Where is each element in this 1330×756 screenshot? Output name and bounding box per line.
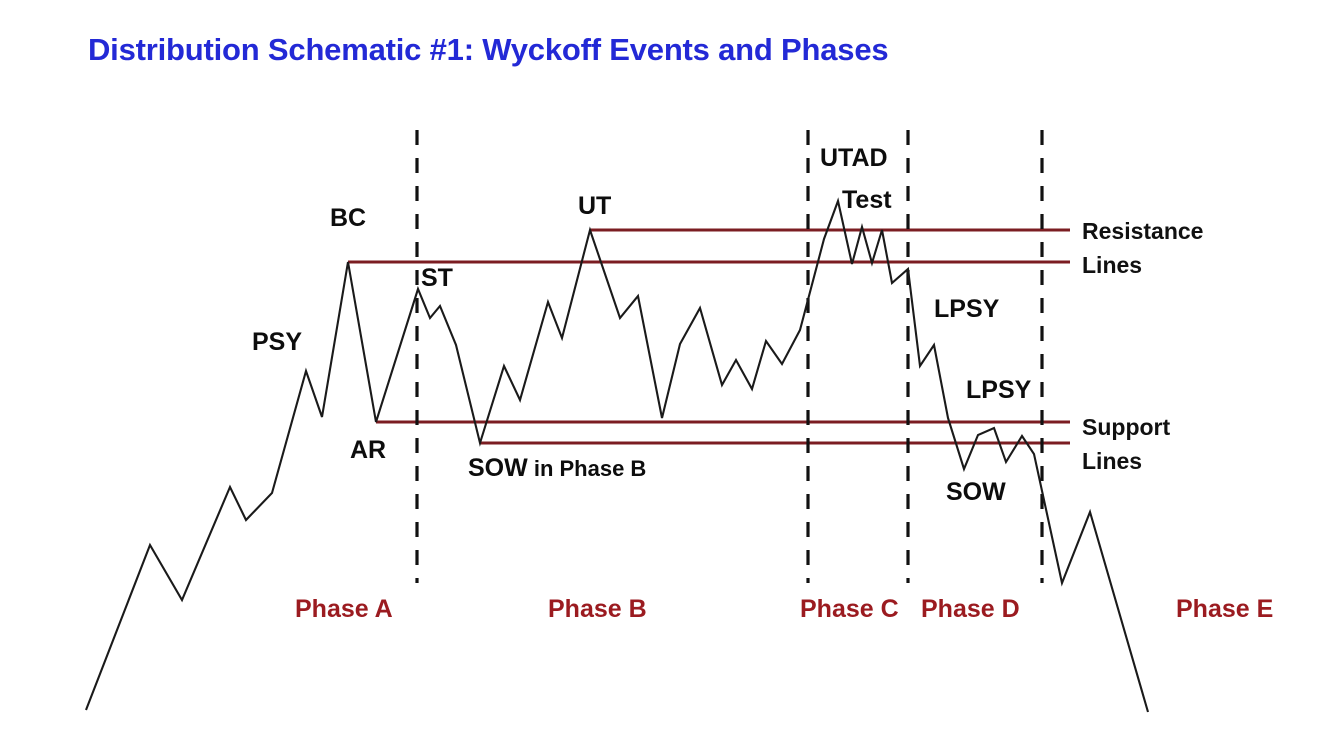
label-psy: PSY	[252, 330, 302, 355]
label-support-line1: Support	[1082, 410, 1170, 444]
label-st: ST	[421, 266, 453, 291]
label-sow-bold: SOW	[468, 454, 528, 482]
schematic-canvas	[0, 0, 1330, 756]
label-lpsy2: LPSY	[966, 378, 1031, 403]
label-resistance-line1: Resistance	[1082, 214, 1203, 248]
label-utad: UTAD	[820, 146, 888, 171]
label-phase-b: Phase B	[548, 597, 647, 622]
label-phase-d: Phase D	[921, 597, 1020, 622]
wyckoff-distribution-schematic: Distribution Schematic #1: Wyckoff Event…	[0, 0, 1330, 756]
label-support-lines: SupportLines	[1082, 410, 1170, 478]
label-in-phase-b: in Phase B	[528, 456, 647, 481]
label-resistance-line2: Lines	[1082, 248, 1203, 282]
label-phase-c: Phase C	[800, 597, 899, 622]
phase-divider-group	[417, 130, 1042, 583]
label-bc: BC	[330, 206, 366, 231]
label-phase-a: Phase A	[295, 597, 393, 622]
label-lpsy1: LPSY	[934, 297, 999, 322]
label-resistance-lines: ResistanceLines	[1082, 214, 1203, 282]
label-ar: AR	[350, 438, 386, 463]
label-test: Test	[842, 188, 892, 213]
label-phase-e: Phase E	[1176, 597, 1273, 622]
label-sow-in-phase-b: SOW in Phase B	[468, 456, 646, 481]
label-support-line2: Lines	[1082, 444, 1170, 478]
label-ut: UT	[578, 194, 611, 219]
label-sow2: SOW	[946, 480, 1006, 505]
